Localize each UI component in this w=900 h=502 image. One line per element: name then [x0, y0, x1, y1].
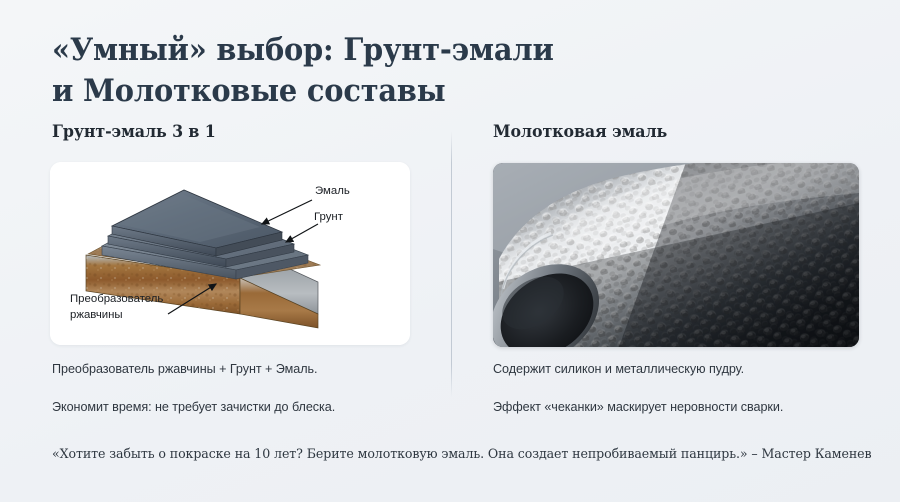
- page-title: «Умный» выбор: Грунт-эмали и Молотковые …: [52, 30, 703, 112]
- left-fact-1: Преобразователь ржавчины + Грунт + Эмаль…: [52, 362, 442, 376]
- hammered-texture-illustration: [493, 163, 859, 347]
- right-facts-list: Содержит силикон и металлическую пудру. …: [493, 362, 883, 414]
- right-fact-2: Эффект «чеканки» маскирует неровности св…: [493, 400, 883, 414]
- right-column-heading: Молотковая эмаль: [493, 122, 844, 141]
- label-primer: Грунт: [314, 211, 344, 223]
- left-facts-list: Преобразователь ржавчины + Грунт + Эмаль…: [52, 362, 442, 414]
- right-fact-1: Содержит силикон и металлическую пудру.: [493, 362, 883, 376]
- column-divider: [451, 131, 452, 397]
- hammered-enamel-photo: [493, 163, 859, 347]
- primer-enamel-diagram-panel: Эмаль Грунт Преобразователь ржавчины: [50, 162, 410, 345]
- left-column: Грунт-эмаль 3 в 1: [52, 122, 422, 159]
- slide-root: «Умный» выбор: Грунт-эмали и Молотковые …: [0, 0, 900, 502]
- label-rust-converter-line1: Преобразователь: [70, 293, 163, 305]
- footer-quote: «Хотите забыть о покраске на 10 лет? Бер…: [52, 447, 832, 462]
- primer-enamel-layers-diagram: Эмаль Грунт Преобразователь ржавчины: [50, 162, 410, 345]
- left-column-heading: Грунт-эмаль 3 в 1: [52, 122, 407, 141]
- left-fact-2: Экономит время: не требует зачистки до б…: [52, 400, 442, 414]
- label-enamel: Эмаль: [315, 185, 350, 197]
- label-rust-converter-line2: ржавчины: [70, 309, 123, 321]
- right-column: Молотковая эмаль: [493, 122, 859, 159]
